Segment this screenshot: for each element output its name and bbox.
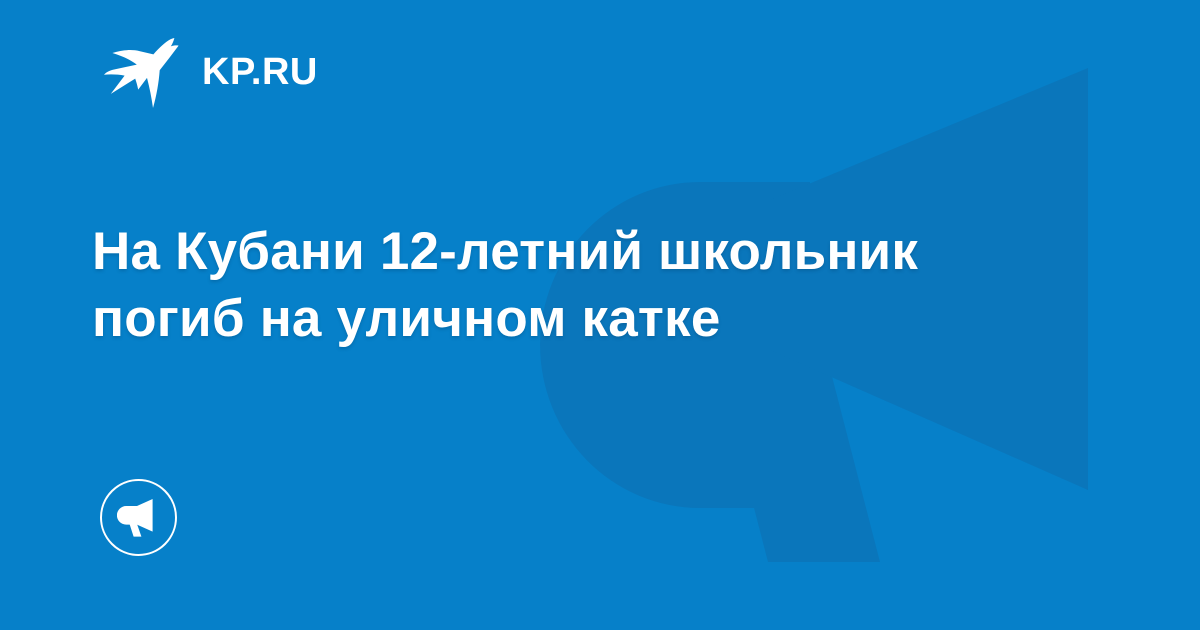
share-card: KP.RU На Кубани 12-летний школьник погиб… (0, 0, 1200, 630)
brand-wordmark: KP.RU (202, 53, 318, 91)
megaphone-badge[interactable] (100, 479, 177, 556)
page-title: На Кубани 12-летний школьник погиб на ул… (92, 218, 1052, 352)
swallow-bird-icon (104, 36, 180, 108)
brand-logo[interactable]: KP.RU (104, 36, 318, 108)
megaphone-icon (117, 497, 160, 539)
